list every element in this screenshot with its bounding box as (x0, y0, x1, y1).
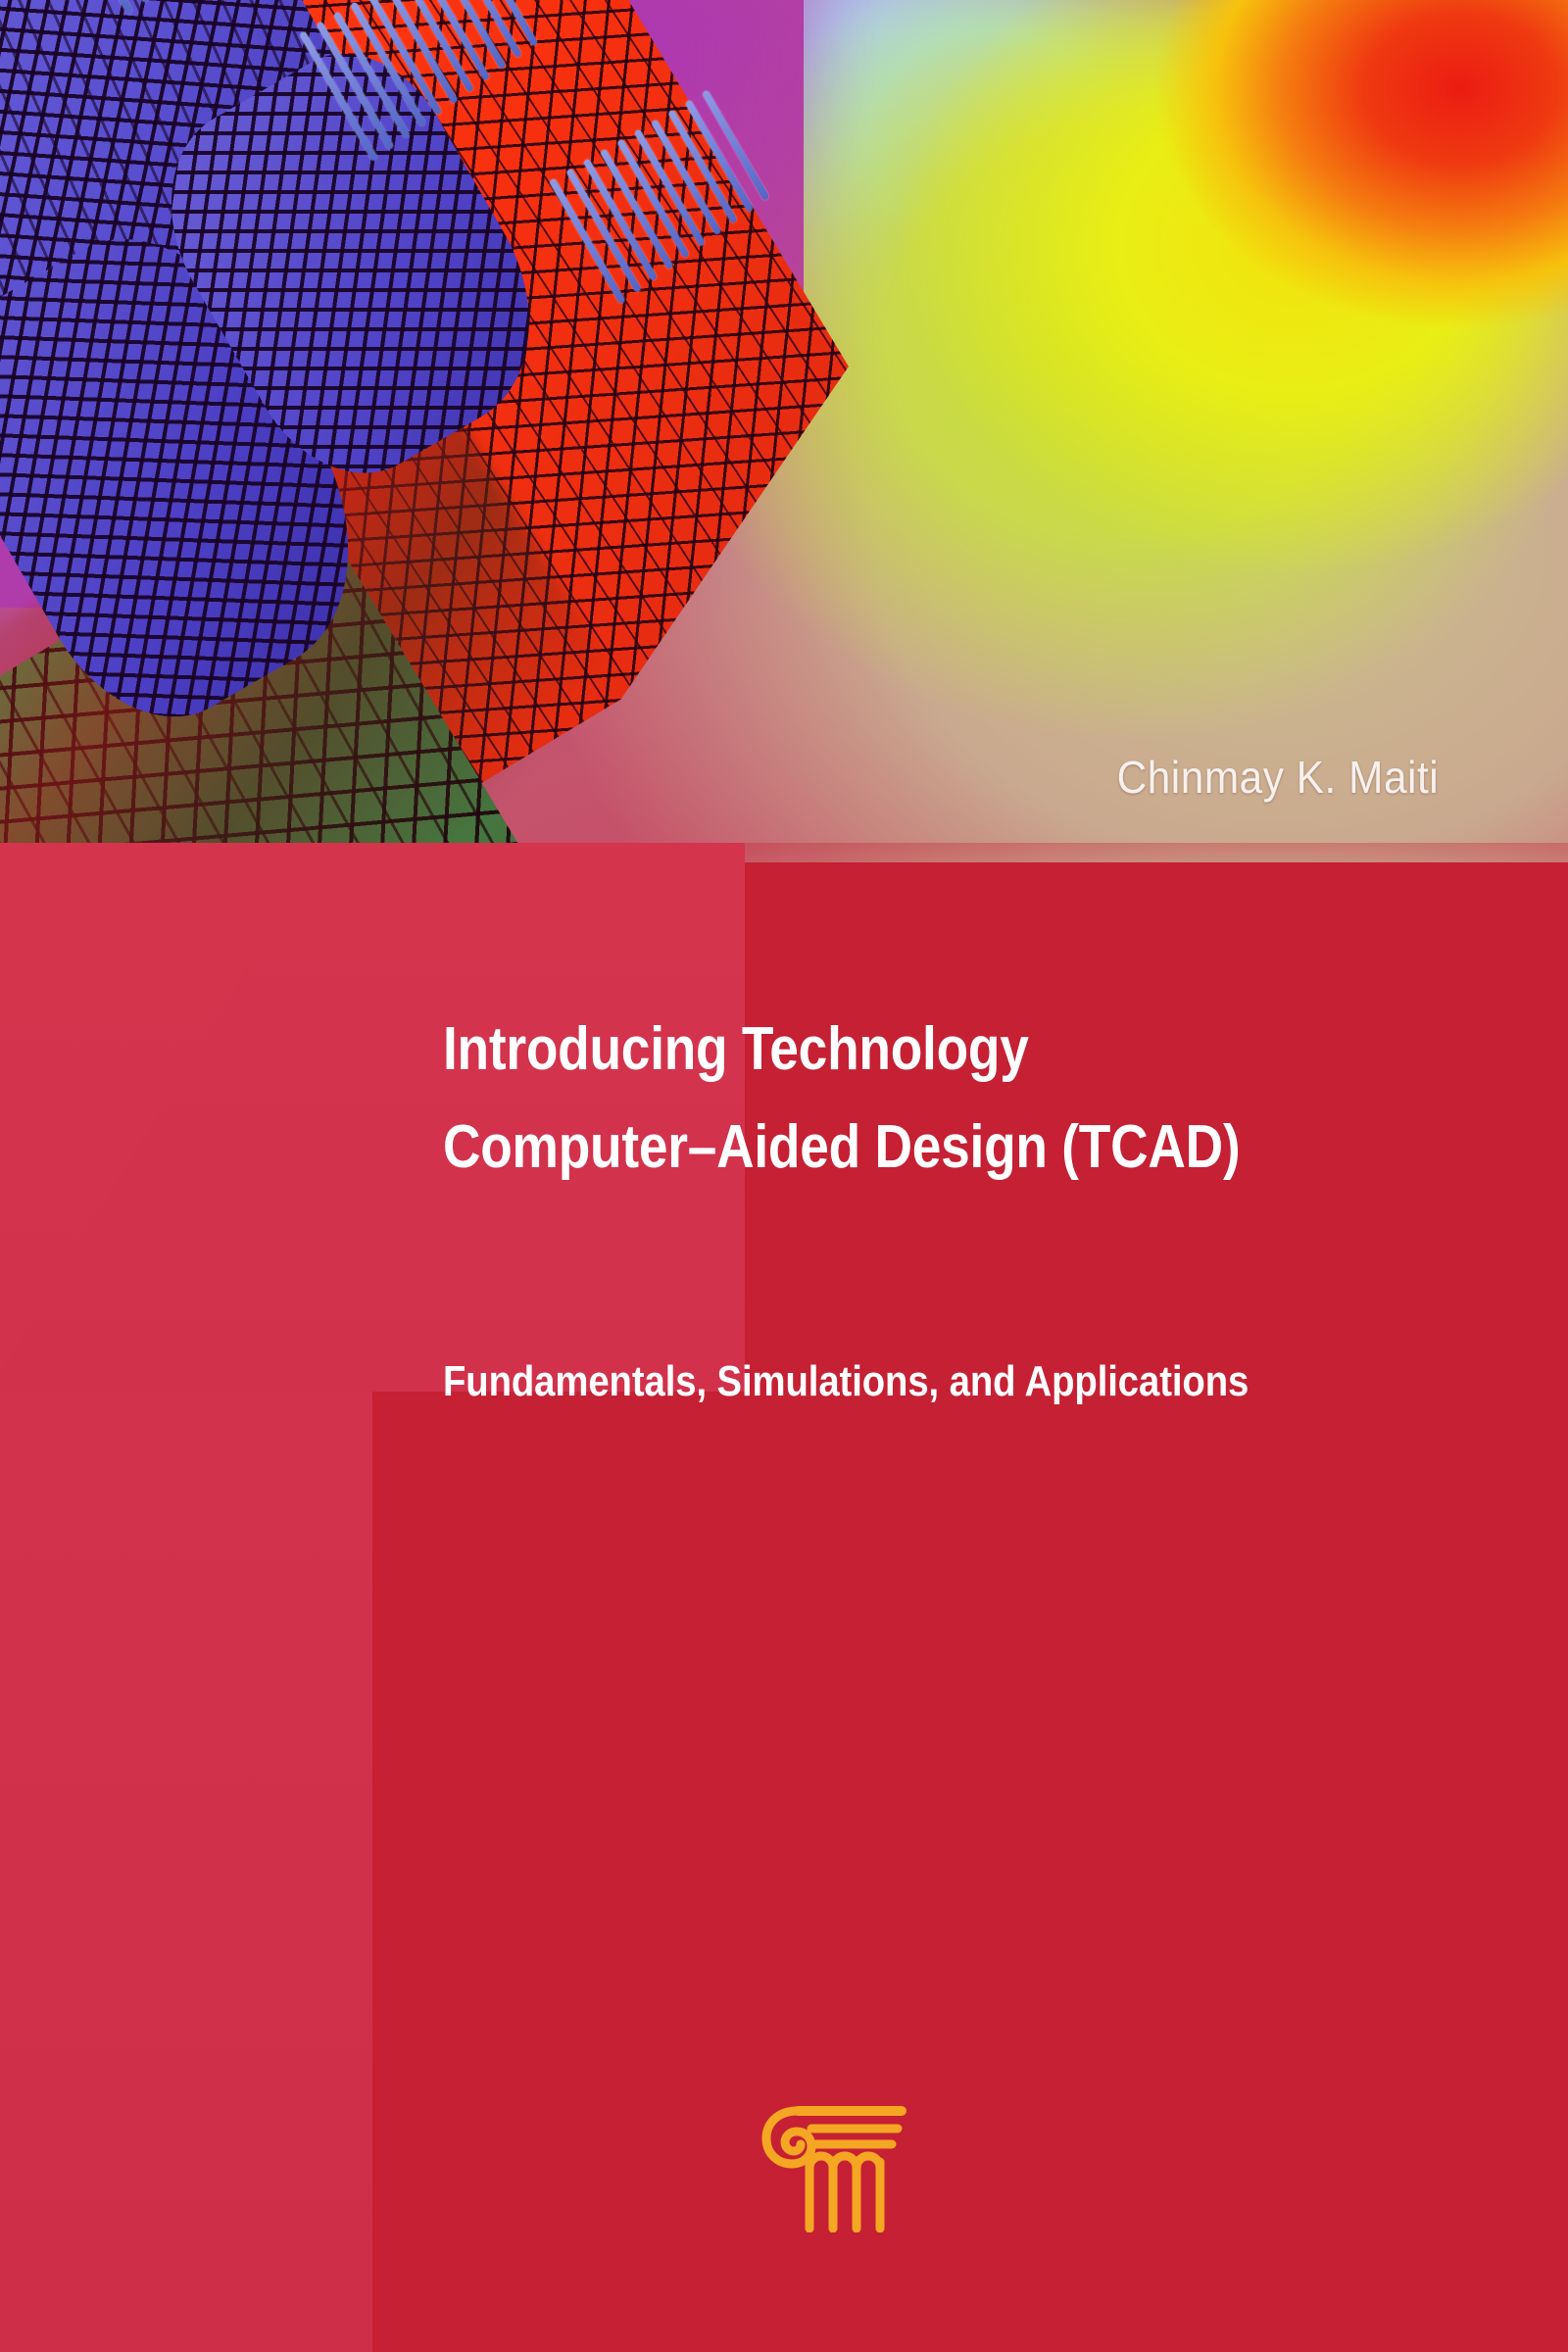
subtitle: Fundamentals, Simulations, and Applicati… (443, 1360, 1249, 1403)
book-cover: Chinmay K. Maiti Introducing Technology … (0, 0, 1568, 2352)
title-block: Introducing Technology Computer–Aided De… (443, 1019, 1482, 1178)
title-line-1: Introducing Technology (443, 1019, 1337, 1080)
title-line-2: Computer–Aided Design (TCAD) (443, 1117, 1337, 1178)
publisher-logo (755, 2085, 911, 2232)
author-name: Chinmay K. Maiti (1116, 751, 1439, 804)
ionic-column-capital-icon (755, 2085, 911, 2232)
